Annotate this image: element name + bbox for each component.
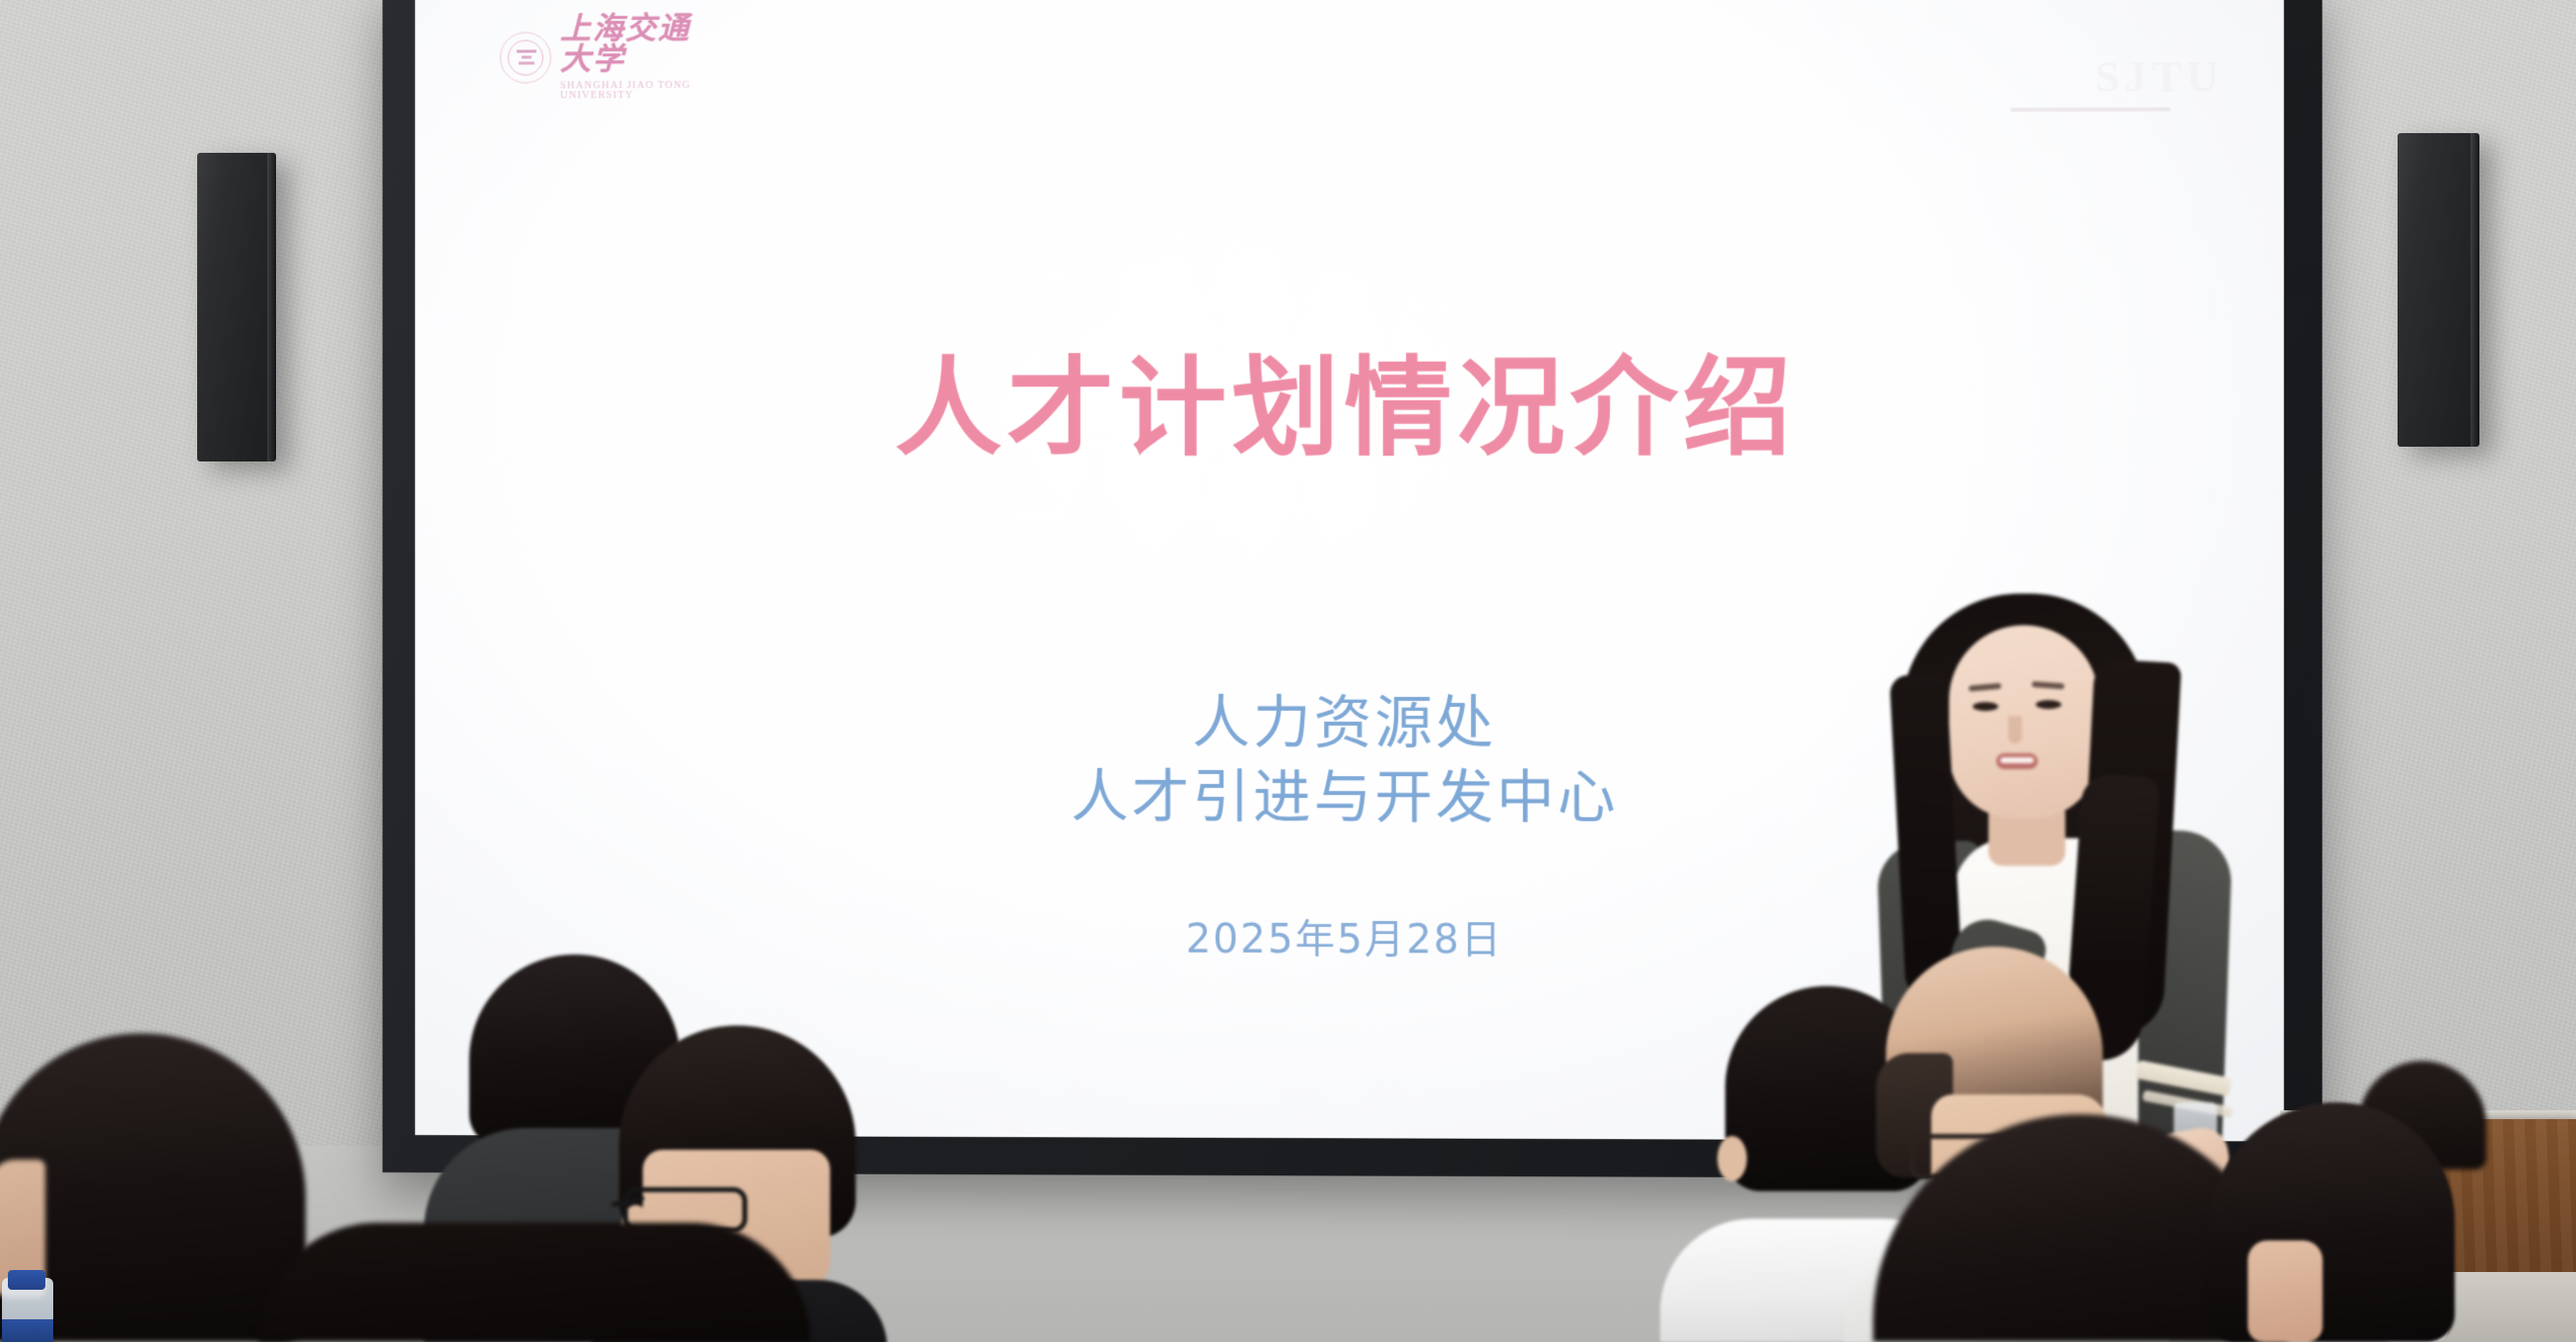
audience-head: [2208, 1102, 2455, 1342]
audience-ear: [1717, 1136, 1747, 1181]
audience-right-woman: [2208, 1102, 2504, 1342]
wall-speaker-left: [197, 153, 276, 461]
water-bottle-cap: [8, 1270, 45, 1290]
presenter-mouth: [1996, 753, 2038, 769]
audience-face: [2248, 1240, 2323, 1342]
water-bottle-label: [2, 1319, 53, 1342]
audience-front-row-dark: [258, 1223, 810, 1342]
slide-organization-line1: 人力资源处: [1192, 689, 1497, 757]
sjtu-seal-icon: [500, 32, 551, 83]
presenter-eye-left: [1973, 702, 1998, 711]
presenter-eye-right: [2036, 700, 2061, 709]
sjtu-watermark: SJTU: [2095, 51, 2223, 103]
presenter-face: [1949, 625, 2099, 818]
sjtu-wordmark-chinese: 上海交通大学: [560, 13, 712, 75]
wall-speaker-right: [2398, 133, 2479, 447]
presenter-nose: [2008, 716, 2022, 743]
sjtu-wordmark: 上海交通大学 SHANGHAI JIAO TONG UNIVERSITY: [560, 13, 712, 102]
sjtu-logo: 上海交通大学 SHANGHAI JIAO TONG UNIVERSITY: [500, 27, 713, 89]
slide-title: 人才计划情况介绍: [415, 320, 2284, 477]
sjtu-watermark-rule: [2010, 107, 2171, 112]
audience-head: [258, 1223, 810, 1342]
conference-room-scene: 上海交通大学 SHANGHAI JIAO TONG UNIVERSITY SJT…: [0, 0, 2576, 1342]
sjtu-wordmark-english: SHANGHAI JIAO TONG UNIVERSITY: [560, 80, 712, 101]
